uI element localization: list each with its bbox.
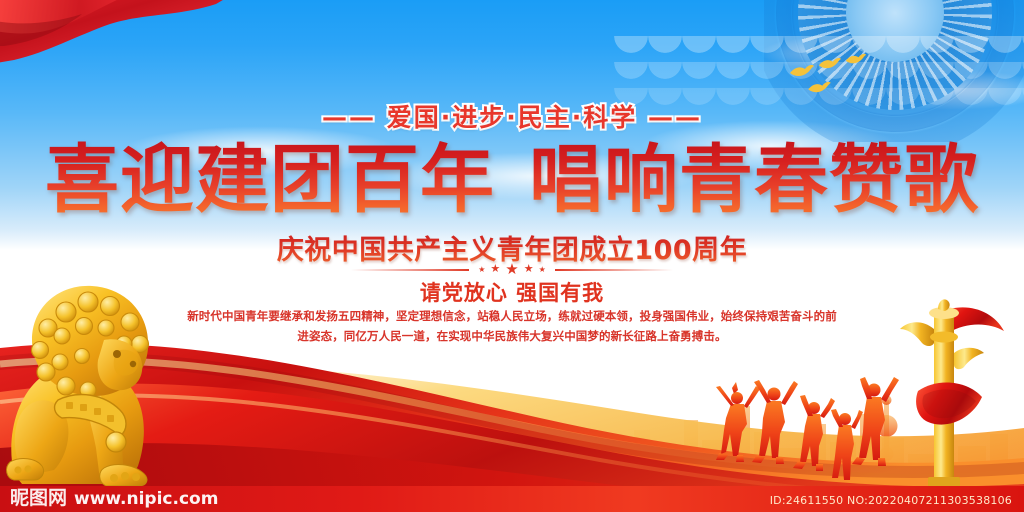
golden-guardian-lion [0,278,192,494]
youth-figure [831,409,863,480]
watermark-brand-cn: 昵图网 [10,483,67,510]
asset-id-label: ID:24611550 NO:20220407211303538106 [770,494,1012,507]
youth-figure [793,395,835,471]
watermark-url: www.nipic.com [74,489,218,509]
main-title: 喜迎建团百年唱响青春赞歌 [0,140,1024,220]
watermark: 昵图网 www.nipic.com [10,483,218,510]
title-right: 唱响青春赞歌 [529,137,979,223]
eyebrow-text: —— 爱国·进步·民主·科学 —— [322,103,702,132]
youth-figure [716,382,760,462]
huabiao-column [886,295,1006,490]
youth-figure [752,380,798,464]
title-left: 喜迎建团百年 [45,137,495,223]
eyebrow-slogan: —— 爱国·进步·民主·科学 —— [0,98,1024,134]
poster-canvas: —— 爱国·进步·民主·科学 —— 喜迎建团百年唱响青春赞歌 喜迎建团百年唱响青… [0,0,1024,512]
jumping-youth-silhouettes [690,374,910,484]
